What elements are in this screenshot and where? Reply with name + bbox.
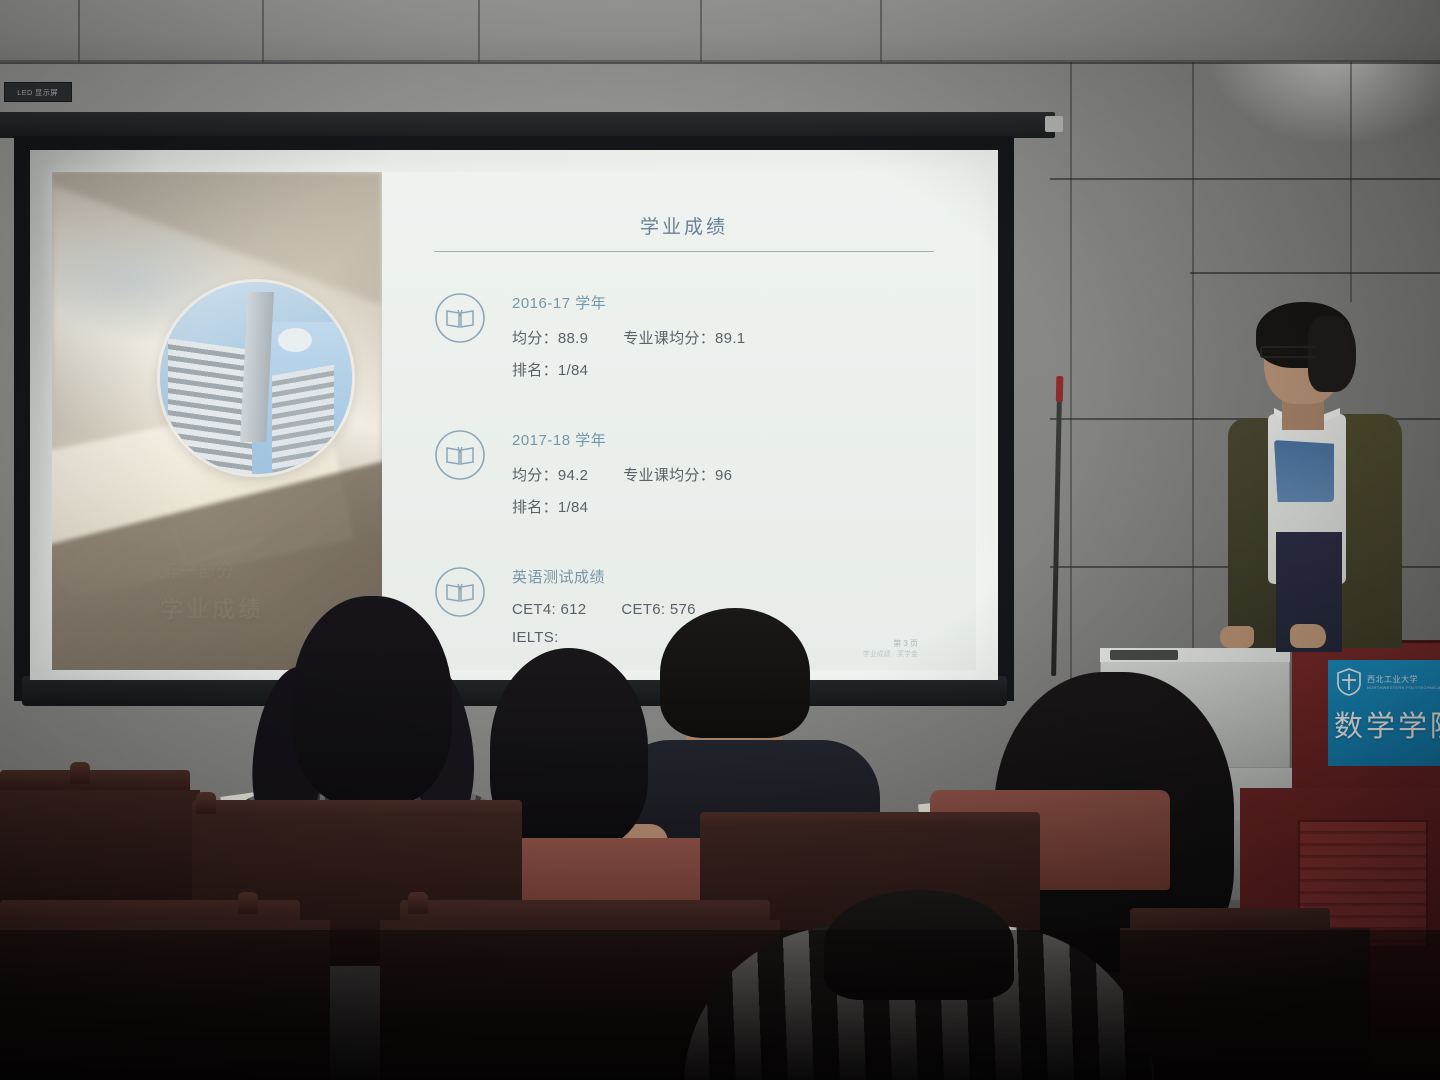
slide-section-line-left: IELTS:	[512, 629, 559, 646]
slide-section: 2017-18 学年 均分：94.2 专业课均分：96 排名：1/84	[434, 427, 934, 528]
wall-seam	[1190, 272, 1440, 274]
slide-section-line-left: 均分：94.2	[512, 467, 588, 484]
bench-knob	[238, 892, 258, 914]
presenter-hand-left	[1220, 626, 1254, 648]
presentation-slide: 第一部分 学业成绩 学业成绩	[52, 172, 976, 670]
department-sign: 西北工业大学 NORTHWESTERN POLYTECHNICAL UNIVER…	[1328, 660, 1440, 766]
slide-section-line-left: CET4: 612	[512, 601, 586, 618]
building-right-shape	[272, 365, 334, 474]
wall-seam	[700, 0, 702, 62]
university-name: 西北工业大学 NORTHWESTERN POLYTECHNICAL UNIVER…	[1367, 675, 1440, 690]
led-display-plaque-label: LED 显示屏	[18, 87, 59, 97]
presenter-shirt-stripe	[1274, 440, 1334, 502]
building-left-shape	[168, 338, 252, 474]
slide-section-line-left: 均分：88.9	[512, 330, 588, 347]
presenter-hand-right	[1290, 624, 1326, 648]
building-dome-shape	[278, 328, 312, 352]
wall-seam	[478, 0, 480, 62]
slide-section-line: 均分：94.2 专业课均分：96	[512, 464, 934, 485]
wall-seam	[880, 0, 882, 62]
open-book-icon	[434, 429, 486, 481]
department-sign-header: 西北工业大学 NORTHWESTERN POLYTECHNICAL UNIVER…	[1328, 660, 1440, 696]
wall-seam	[1050, 178, 1440, 180]
slide-section-line-right: 专业课均分：96	[623, 467, 732, 484]
slide-section-line-right: 专业课均分：89.1	[623, 330, 745, 347]
wall-seam	[1350, 62, 1352, 302]
slide-section: 2016-17 学年 均分：88.9 专业课均分：89.1 排名：1/84	[434, 290, 934, 391]
projector-screen-housing	[0, 112, 1055, 138]
slide-sections: 2016-17 学年 均分：88.9 专业课均分：89.1 排名：1/84	[434, 290, 934, 657]
university-name-cn: 西北工业大学	[1367, 675, 1418, 684]
bench-knob	[70, 762, 90, 784]
glasses-icon	[1260, 346, 1316, 358]
lecture-hall-photo: LED 显示屏 第一部分 学业成绩	[0, 0, 1440, 1080]
keyboard	[1110, 650, 1178, 660]
projector-screen-surface: 第一部分 学业成绩 学业成绩	[30, 150, 998, 680]
campus-building-circle-photo	[160, 282, 352, 474]
university-crest-icon	[1336, 668, 1362, 696]
wall-seam	[262, 0, 264, 62]
slide-section-line: 均分：88.9 专业课均分：89.1	[512, 327, 934, 348]
slide-section-line: 排名：1/84	[512, 359, 934, 380]
led-display-plaque: LED 显示屏	[4, 82, 72, 102]
slide-part-label: 第一部分	[160, 557, 380, 582]
presenter	[1212, 302, 1427, 662]
slide-section-heading: 英语测试成绩	[512, 566, 934, 587]
department-name: 数学学院	[1328, 703, 1440, 745]
slide-section-heading: 2017-18 学年	[512, 429, 934, 450]
slide-title: 学业成绩	[434, 198, 934, 239]
bench-knob	[196, 792, 216, 814]
bench-seat	[0, 790, 200, 910]
slide-section-heading: 2016-17 学年	[512, 292, 934, 313]
wall-seam	[78, 0, 80, 62]
wall-seam	[0, 62, 1440, 64]
foreground-shadow	[0, 930, 1440, 1080]
slide-section-line: 排名：1/84	[512, 496, 934, 517]
slide-section-body: 2016-17 学年 均分：88.9 专业课均分：89.1 排名：1/84	[512, 290, 934, 391]
slide-section-line-left: 排名：1/84	[512, 362, 588, 379]
bench-knob	[408, 892, 428, 914]
ceiling-strip	[0, 0, 1440, 62]
slide-section-body: 2017-18 学年 均分：94.2 专业课均分：96 排名：1/84	[512, 427, 934, 528]
slide-section-line-left: 排名：1/84	[512, 499, 588, 516]
university-name-en: NORTHWESTERN POLYTECHNICAL UNIVERSITY	[1367, 685, 1440, 690]
slide-title-divider	[434, 251, 934, 252]
open-book-icon	[434, 292, 486, 344]
